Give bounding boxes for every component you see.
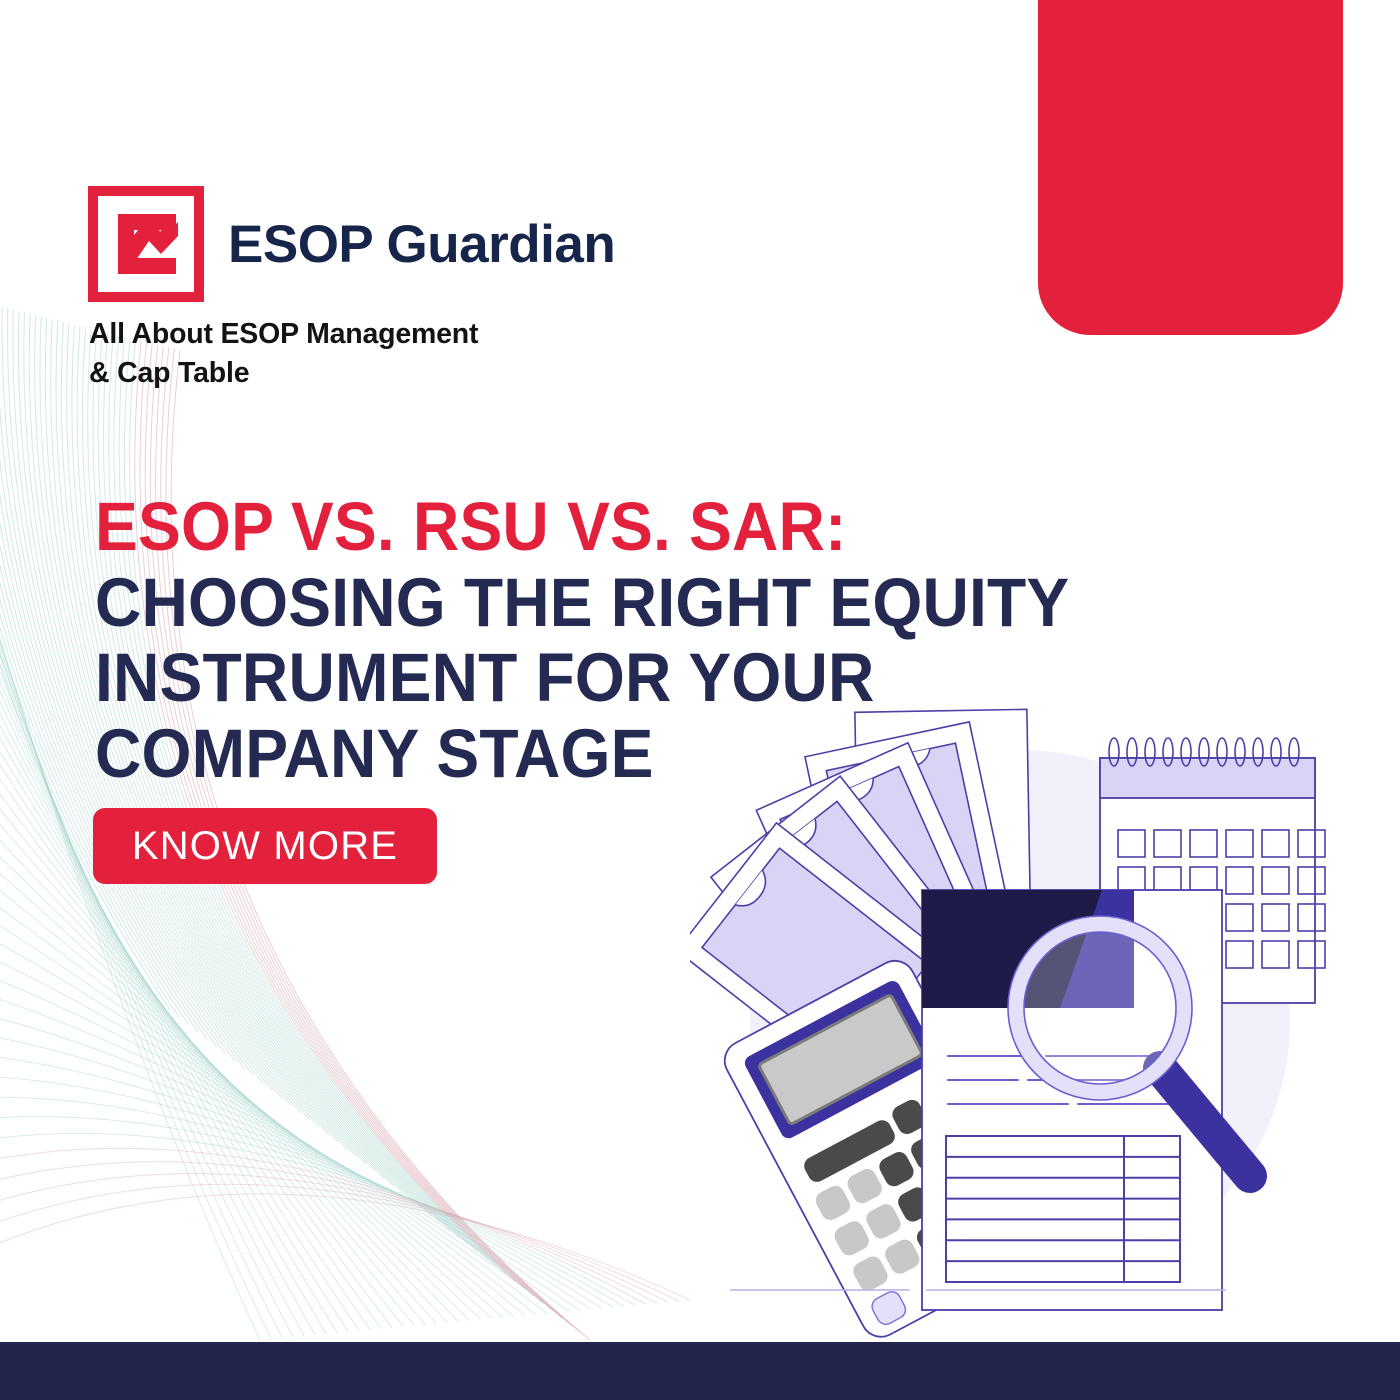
tagline-line-2: & Cap Table (89, 354, 478, 393)
brand-name: ESOP Guardian (228, 218, 615, 271)
esop-guardian-logo-icon (88, 186, 204, 302)
headline-accent: ESOP VS. RSU VS. SAR: (95, 488, 847, 565)
know-more-button[interactable]: KNOW MORE (93, 808, 437, 884)
know-more-label: KNOW MORE (132, 826, 398, 866)
tagline-line-1: All About ESOP Management (89, 315, 478, 354)
brand-header: ESOP Guardian (88, 186, 615, 302)
poster-canvas: ESOP Guardian All About ESOP Management … (0, 0, 1400, 1400)
red-corner-block (1038, 0, 1343, 335)
brand-tagline: All About ESOP Management & Cap Table (89, 315, 478, 394)
finance-illustration (690, 690, 1350, 1350)
footer-bar (0, 1342, 1400, 1400)
